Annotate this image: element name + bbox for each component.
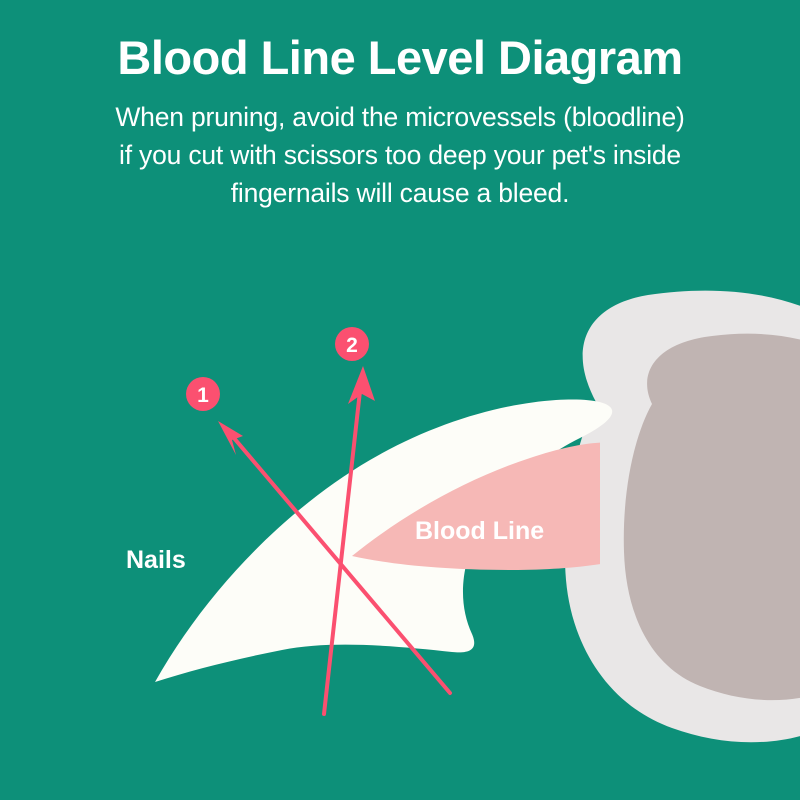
subtitle-line-2: if you cut with scissors too deep your p… [70, 137, 730, 175]
blood-line-label: Blood Line [415, 517, 544, 545]
step-marker-2[interactable]: 2 [335, 327, 369, 361]
subtitle-line-3: fingernails will cause a bleed. [70, 175, 730, 213]
blood-line-diagram-poster: Blood Line Level Diagram When pruning, a… [0, 0, 800, 800]
nails-label: Nails [126, 546, 186, 574]
subtitle-line-1: When pruning, avoid the microvessels (bl… [70, 99, 730, 137]
page-subtitle: When pruning, avoid the microvessels (bl… [70, 82, 730, 212]
page-title: Blood Line Level Diagram [0, 0, 800, 82]
arrow-1-head [218, 421, 243, 455]
marker-2-number: 2 [346, 334, 358, 357]
marker-1-number: 1 [197, 384, 209, 407]
header-block: Blood Line Level Diagram When pruning, a… [0, 0, 800, 212]
step-marker-1[interactable]: 1 [186, 377, 220, 411]
arrow-2-head [348, 366, 375, 404]
